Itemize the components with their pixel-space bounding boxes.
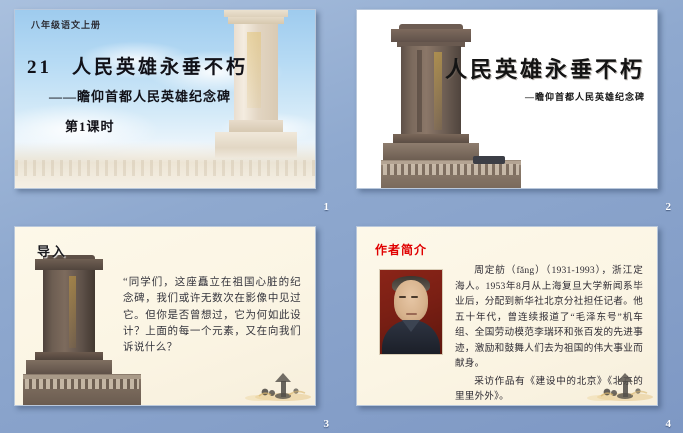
- slide-2-title: 人民英雄永垂不朽: [445, 52, 645, 84]
- author-bio-paragraph: 周定舫（fǎng）（1931-1993），浙江定海人。1953年8月从上海复旦大…: [455, 263, 643, 372]
- section-heading: 作者简介: [375, 241, 427, 258]
- monument-cornice: [35, 259, 103, 270]
- monument-cornice: [391, 29, 471, 42]
- slide-1[interactable]: 八年级语文上册 21人民英雄永垂不朽 ——瞻仰首都人民英雄纪念碑 第1课时: [14, 9, 316, 189]
- portrait-eye-right: [411, 296, 418, 298]
- lesson-number: 21: [27, 57, 52, 78]
- page-number-4: 4: [666, 418, 672, 430]
- monument-cornice: [228, 17, 284, 24]
- monument-shadow-detail: [473, 156, 505, 164]
- author-works-paragraph: 采访作品有《建设中的北京》《北京的里里外外》。: [455, 374, 643, 405]
- monument-plinth: [215, 132, 297, 158]
- watercolor-decoration-icon: [239, 367, 311, 401]
- monument-mid-band: [35, 352, 103, 360]
- intro-body-text: “同学们，这座矗立在祖国心脏的纪念碑，我们或许无数次在影像中见过它。但你是否曾想…: [123, 275, 301, 356]
- course-label: 八年级语文上册: [31, 18, 101, 31]
- slide-cell-4[interactable]: 作者简介 周定舫（fǎng）（1931-1993），浙江定海人。1953年8月从…: [342, 217, 683, 433]
- slide-4[interactable]: 作者简介 周定舫（fǎng）（1931-1993），浙江定海人。1953年8月从…: [356, 226, 658, 406]
- slide-2[interactable]: 人民英雄永垂不朽 —瞻仰首都人民英雄纪念碑: [356, 9, 658, 189]
- monument-pedestal: [383, 143, 479, 160]
- slide-3[interactable]: 导入 “同学们，这座矗立在祖国心脏的纪念碑，我们或许无数次在影像中见过它。但你是…: [14, 226, 316, 406]
- slide-deck: 八年级语文上册 21人民英雄永垂不朽 ——瞻仰首都人民英雄纪念碑 第1课时 1: [0, 0, 683, 433]
- page-number-2: 2: [666, 201, 672, 213]
- page-number-1: 1: [324, 201, 330, 213]
- monument-cap: [224, 9, 288, 17]
- title-line: 21人民英雄永垂不朽: [27, 52, 267, 79]
- monument-mid-band: [393, 134, 469, 143]
- page-number-3: 3: [324, 418, 330, 430]
- cover-title-block: 21人民英雄永垂不朽 ——瞻仰首都人民英雄纪念碑 第1课时: [27, 52, 267, 135]
- portrait-eye-left: [399, 296, 406, 298]
- monument-shaft: [43, 270, 95, 352]
- slide-2-subtitle: —瞻仰首都人民英雄纪念碑: [445, 90, 645, 103]
- portrait-mouth: [406, 313, 417, 315]
- monument-photo: [381, 20, 521, 188]
- author-bio-text: 周定舫（fǎng）（1931-1993），浙江定海人。1953年8月从上海复旦大…: [455, 263, 643, 406]
- portrait-face: [394, 280, 428, 322]
- lesson-subtitle: ——瞻仰首都人民英雄纪念碑: [49, 86, 267, 105]
- monument-pedestal: [26, 360, 112, 374]
- monument-balustrade: [383, 164, 519, 175]
- slide-cell-1[interactable]: 八年级语文上册 21人民英雄永垂不朽 ——瞻仰首都人民英雄纪念碑 第1课时 1: [0, 0, 341, 216]
- slide-2-title-block: 人民英雄永垂不朽 —瞻仰首都人民英雄纪念碑: [445, 52, 645, 103]
- section-heading: 导入: [37, 241, 67, 260]
- lesson-session: 第1课时: [65, 116, 267, 135]
- lesson-title: 人民英雄永垂不朽: [72, 57, 248, 78]
- slide-cell-3[interactable]: 导入 “同学们，这座矗立在祖国心脏的纪念碑，我们或许无数次在影像中见过它。但你是…: [0, 217, 341, 433]
- monument-balustrade: [25, 379, 139, 389]
- slide-cell-2[interactable]: 人民英雄永垂不朽 —瞻仰首都人民英雄纪念碑 2: [342, 0, 683, 216]
- author-portrait: [379, 269, 443, 355]
